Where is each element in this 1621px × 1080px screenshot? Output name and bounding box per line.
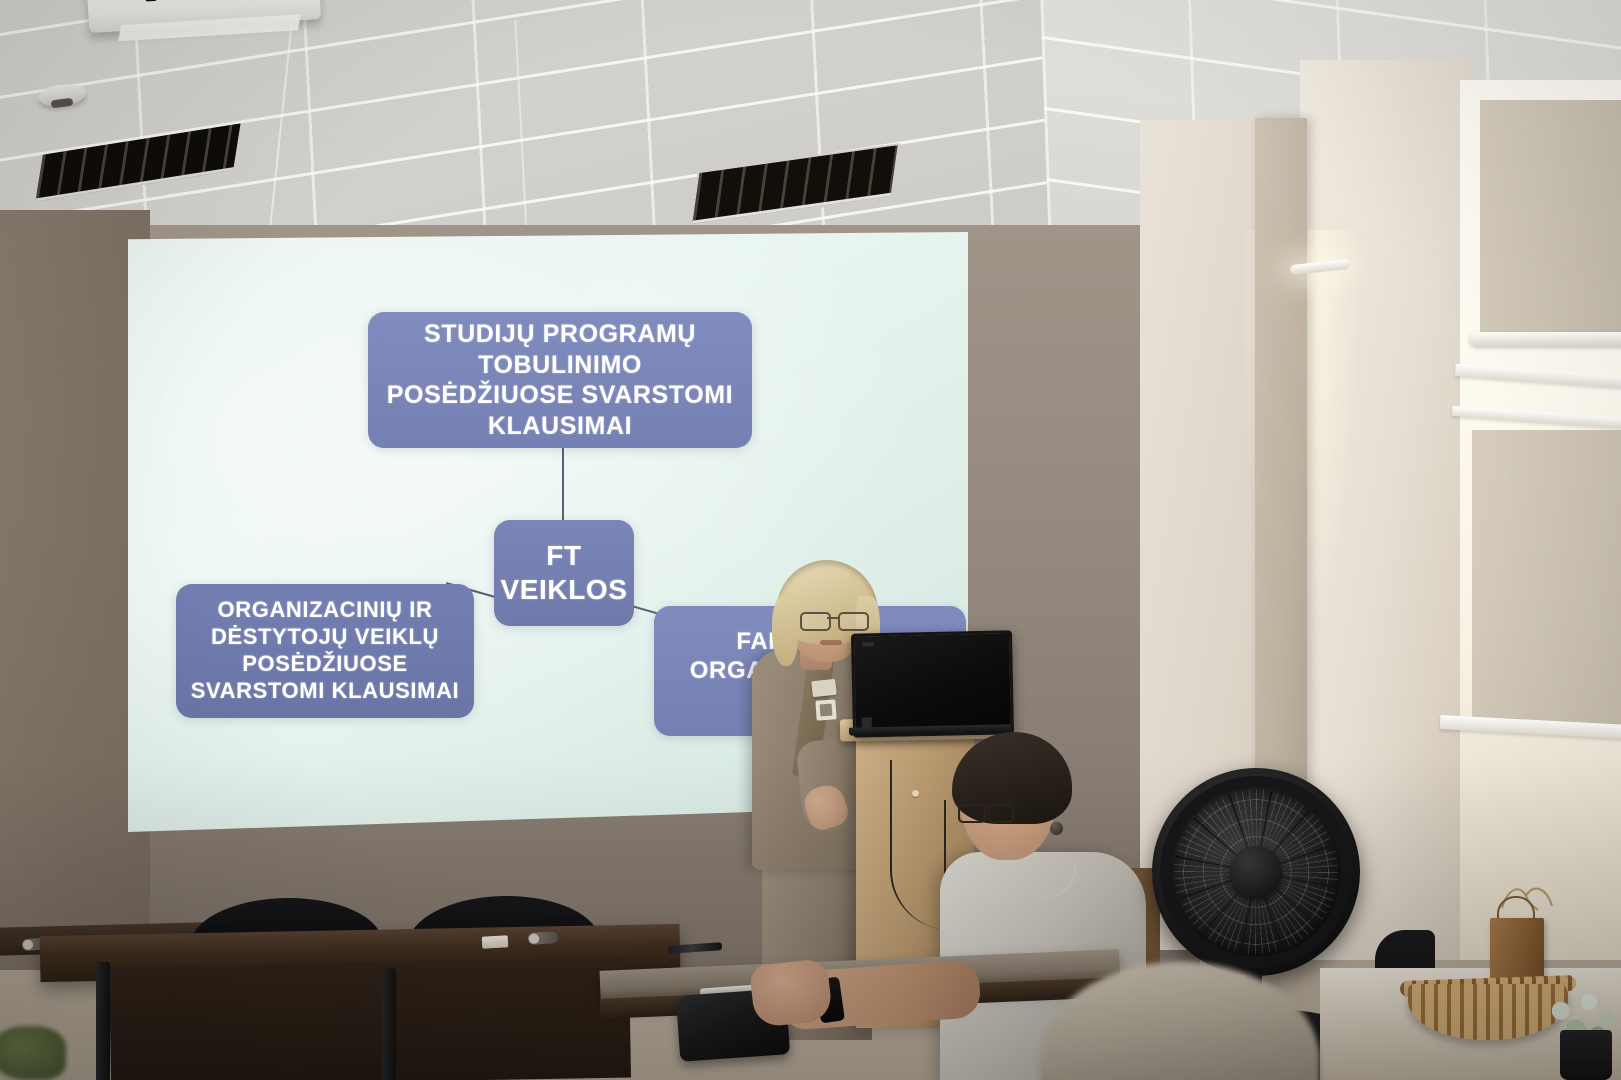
laptop-logo [862, 642, 874, 646]
slide-node-left-text: ORGANIZACINIŲ IR DĖSTYTOJŲ VEIKLŲ POSĖDŽ… [186, 597, 464, 704]
presenter-hair-left [772, 596, 798, 666]
roller-blind-lower[interactable] [1472, 430, 1621, 730]
conference-room-photo: STUDIJŲ PROGRAMŲ TOBULINIMO POSĖDŽIUOSE … [0, 0, 1621, 1080]
fan-hub [1230, 846, 1282, 898]
desk-modesty-panel [109, 957, 631, 1080]
slide-node-top-text: STUDIJŲ PROGRAMŲ TOBULINIMO POSĖDŽIUOSE … [382, 319, 738, 441]
desk-leg-right [382, 968, 396, 1080]
black-pot [1560, 1030, 1612, 1080]
slide-node-center: FT VEIKLOS [494, 520, 634, 626]
laptop-badge [862, 717, 872, 727]
connector-top-to-center [562, 448, 564, 522]
roller-blind-upper[interactable] [1480, 100, 1621, 340]
slide-node-top: STUDIJŲ PROGRAMŲ TOBULINIMO POSĖDŽIUOSE … [368, 312, 752, 448]
presenter-mouth [820, 640, 842, 645]
seated-glasses-lens-left [958, 804, 986, 823]
glasses-bridge [827, 617, 838, 619]
ear-stud [1050, 822, 1063, 835]
small-white-object[interactable] [482, 935, 509, 948]
projector-ports [145, 0, 316, 4]
left-wall [0, 210, 150, 970]
floor-fan[interactable] [1152, 768, 1360, 976]
seated-glasses-icon [958, 804, 1010, 820]
seated-glasses-lens-right [988, 804, 1014, 823]
plant-foreground-left [0, 1026, 66, 1080]
keys-on-main-desk[interactable] [528, 931, 559, 945]
slide-node-center-text: FT VEIKLOS [494, 539, 634, 607]
presenter-id-card [815, 699, 836, 720]
glasses-lens-right [838, 612, 869, 631]
slide-node-left: ORGANIZACINIŲ IR DĖSTYTOJŲ VEIKLŲ POSĖDŽ… [176, 584, 474, 718]
glasses-lens-left [800, 612, 831, 631]
ceiling-projector [87, 0, 321, 33]
laptop-screen[interactable] [851, 630, 1014, 737]
desk-leg-left [96, 962, 110, 1080]
presenter-name-badge [811, 679, 837, 697]
roller-blind-rod-upper[interactable] [1470, 332, 1621, 346]
projector-port-audio [145, 0, 157, 1]
presenter-glasses-icon [800, 612, 868, 628]
